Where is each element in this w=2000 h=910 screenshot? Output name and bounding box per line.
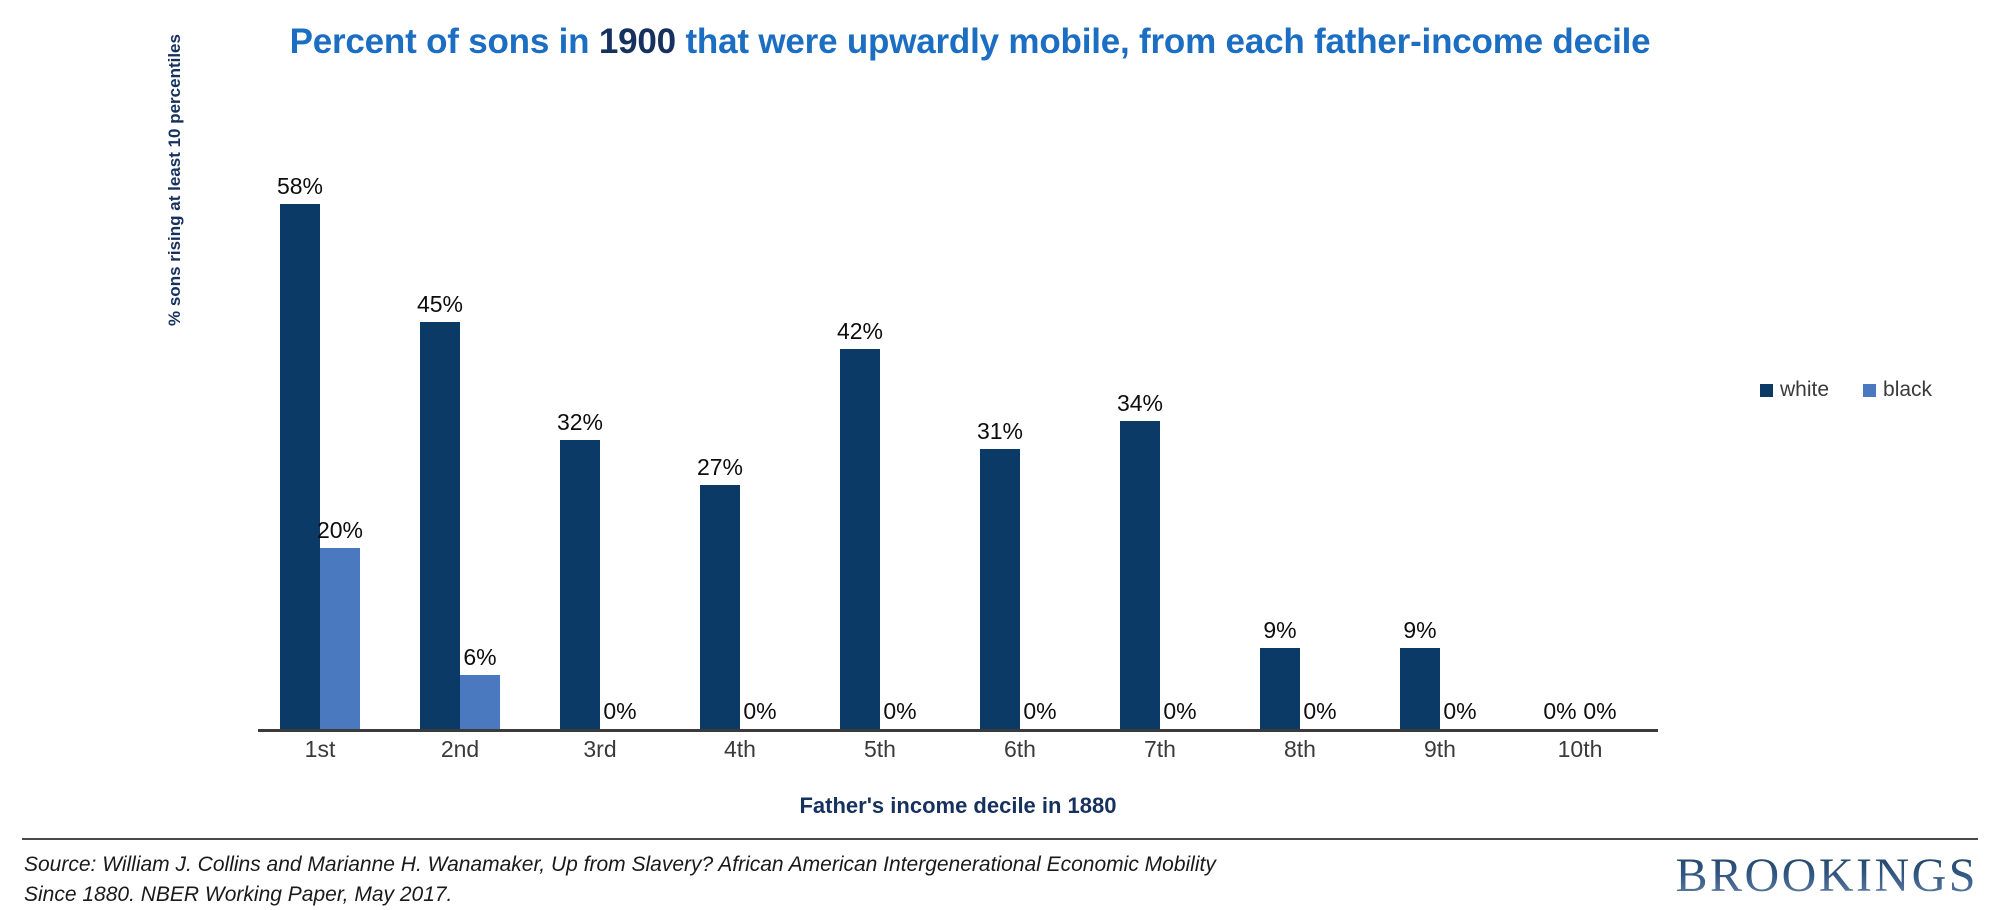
page-title: Percent of sons in 1900 that were upward… xyxy=(230,20,1710,65)
bar-label-white-9th: 9% xyxy=(1380,617,1460,644)
bar-label-black-4th: 0% xyxy=(720,698,800,725)
x-tick-10th: 10th xyxy=(1520,736,1640,763)
bar-label-black-1st: 20% xyxy=(300,517,380,544)
legend: white black xyxy=(1760,378,1932,402)
bar-label-black-7th: 0% xyxy=(1140,698,1220,725)
bar-label-black-8th: 0% xyxy=(1280,698,1360,725)
brookings-logo: BROOKINGS xyxy=(1675,848,1978,903)
bar-label-black-9th: 0% xyxy=(1420,698,1500,725)
bar-label-white-4th: 27% xyxy=(680,454,760,481)
legend-label-white: white xyxy=(1780,378,1829,402)
bar-group-2nd: 45%6% xyxy=(420,150,500,729)
bar-label-black-5th: 0% xyxy=(860,698,940,725)
bar-white-7th[interactable] xyxy=(1120,421,1160,729)
bar-label-black-2nd: 6% xyxy=(440,644,520,671)
bar-black-1st[interactable] xyxy=(320,548,360,729)
bar-label-white-5th: 42% xyxy=(820,318,900,345)
x-tick-6th: 6th xyxy=(960,736,1080,763)
plot-area: 58%20%1st45%6%2nd32%0%3rd27%0%4th42%0%5t… xyxy=(258,150,1658,732)
title-part-one: Percent of sons in xyxy=(290,22,599,61)
bar-white-6th[interactable] xyxy=(980,449,1020,729)
bar-label-white-7th: 34% xyxy=(1100,390,1180,417)
bar-white-1st[interactable] xyxy=(280,204,320,729)
x-tick-2nd: 2nd xyxy=(400,736,520,763)
bar-group-9th: 9%0% xyxy=(1400,150,1480,729)
x-tick-7th: 7th xyxy=(1100,736,1220,763)
bar-group-1st: 58%20% xyxy=(280,150,360,729)
bar-white-3rd[interactable] xyxy=(560,440,600,730)
footer-divider xyxy=(22,838,1978,840)
x-tick-5th: 5th xyxy=(820,736,940,763)
legend-item-white[interactable]: white xyxy=(1760,378,1829,402)
x-tick-1st: 1st xyxy=(260,736,380,763)
bar-group-5th: 42%0% xyxy=(840,150,920,729)
bar-group-6th: 31%0% xyxy=(980,150,1060,729)
x-tick-3rd: 3rd xyxy=(540,736,660,763)
bar-group-4th: 27%0% xyxy=(700,150,780,729)
x-tick-4th: 4th xyxy=(680,736,800,763)
bar-group-8th: 9%0% xyxy=(1260,150,1340,729)
bar-group-7th: 34%0% xyxy=(1120,150,1200,729)
legend-item-black[interactable]: black xyxy=(1863,378,1932,402)
x-axis-line xyxy=(258,729,1658,732)
legend-swatch-white xyxy=(1760,384,1773,397)
bar-label-black-3rd: 0% xyxy=(580,698,660,725)
bar-label-black-10th: 0% xyxy=(1560,698,1640,725)
bar-label-white-8th: 9% xyxy=(1240,617,1320,644)
bar-black-2nd[interactable] xyxy=(460,675,500,729)
bar-label-black-6th: 0% xyxy=(1000,698,1080,725)
x-axis-title: Father's income decile in 1880 xyxy=(258,793,1658,819)
x-tick-9th: 9th xyxy=(1380,736,1500,763)
title-part-two: that were upwardly mobile, from each fat… xyxy=(676,22,1650,61)
bar-label-white-3rd: 32% xyxy=(540,409,620,436)
bar-group-10th: 0%0% xyxy=(1540,150,1620,729)
legend-swatch-black xyxy=(1863,384,1876,397)
bar-white-4th[interactable] xyxy=(700,485,740,729)
x-tick-8th: 8th xyxy=(1240,736,1360,763)
y-axis-title: % sons rising at least 10 percentiles xyxy=(165,0,185,415)
legend-label-black: black xyxy=(1883,378,1932,402)
source-note: Source: William J. Collins and Marianne … xyxy=(24,850,1274,910)
title-highlight-year: 1900 xyxy=(599,22,676,61)
bar-white-5th[interactable] xyxy=(840,349,880,729)
bar-label-white-2nd: 45% xyxy=(400,291,480,318)
bar-label-white-1st: 58% xyxy=(260,173,340,200)
bar-label-white-6th: 31% xyxy=(960,418,1040,445)
bar-group-3rd: 32%0% xyxy=(560,150,640,729)
